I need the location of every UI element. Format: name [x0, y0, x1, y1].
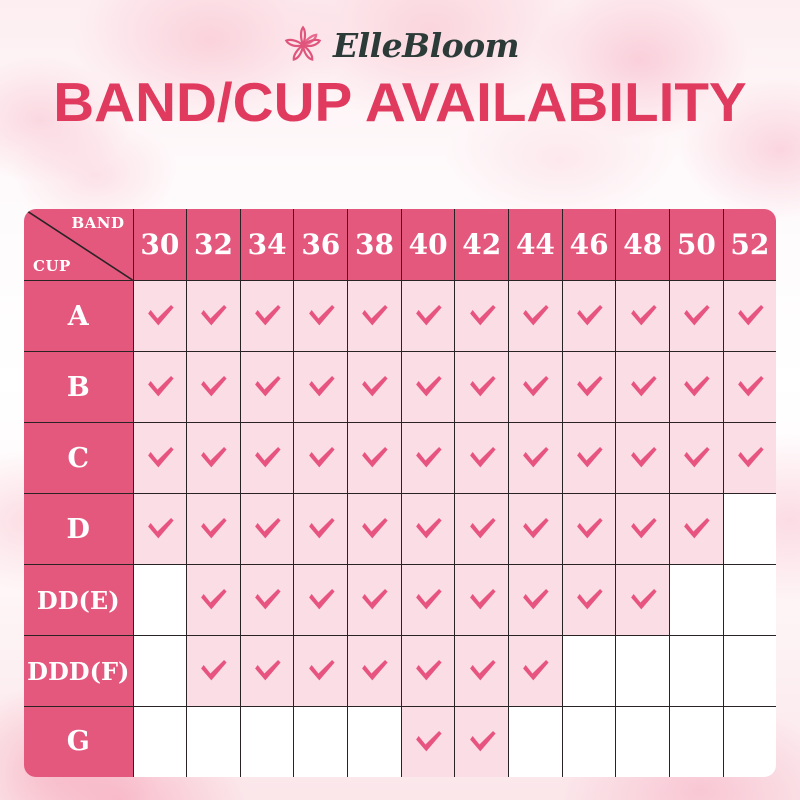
availability-cell-G-44[interactable] — [509, 707, 563, 778]
band-header-46[interactable]: 46 — [562, 208, 616, 281]
band-header-52[interactable]: 52 — [723, 208, 777, 281]
check-icon — [518, 583, 552, 617]
availability-cell-G-48[interactable] — [616, 707, 670, 778]
availability-cell-C-50[interactable] — [670, 423, 724, 494]
availability-cell-DDDF-30[interactable] — [133, 636, 187, 707]
availability-cell-D-34[interactable] — [240, 494, 294, 565]
cup-header-G[interactable]: G — [23, 707, 133, 778]
availability-cell-G-36[interactable] — [294, 707, 348, 778]
check-icon — [196, 512, 230, 546]
availability-cell-A-46[interactable] — [562, 281, 616, 352]
availability-cell-DDE-30[interactable] — [133, 565, 187, 636]
check-icon — [411, 512, 445, 546]
availability-cell-D-52[interactable] — [723, 494, 777, 565]
availability-cell-DDE-50[interactable] — [670, 565, 724, 636]
availability-cell-D-32[interactable] — [187, 494, 241, 565]
table-row: A — [23, 281, 777, 352]
availability-cell-D-50[interactable] — [670, 494, 724, 565]
band-axis-label: BAND — [71, 214, 124, 232]
availability-table-wrapper: BAND CUP 303234363840424446485052 ABCDDD… — [22, 207, 778, 775]
availability-cell-DDDF-52[interactable] — [723, 636, 777, 707]
check-icon — [679, 512, 713, 546]
check-icon — [411, 583, 445, 617]
cup-header-D[interactable]: D — [23, 494, 133, 565]
availability-cell-G-42[interactable] — [455, 707, 509, 778]
availability-cell-DDDF-34[interactable] — [240, 636, 294, 707]
check-icon — [518, 512, 552, 546]
availability-cell-DDE-34[interactable] — [240, 565, 294, 636]
check-icon — [143, 441, 177, 475]
availability-cell-C-30[interactable] — [133, 423, 187, 494]
check-icon — [626, 512, 660, 546]
band-header-42[interactable]: 42 — [455, 208, 509, 281]
availability-cell-A-40[interactable] — [401, 281, 455, 352]
cup-header-C[interactable]: C — [23, 423, 133, 494]
check-icon — [465, 512, 499, 546]
check-icon — [465, 299, 499, 333]
availability-cell-A-36[interactable] — [294, 281, 348, 352]
check-icon — [304, 654, 338, 688]
availability-cell-DDE-36[interactable] — [294, 565, 348, 636]
check-icon — [304, 299, 338, 333]
availability-cell-G-52[interactable] — [723, 707, 777, 778]
check-icon — [518, 370, 552, 404]
check-icon — [250, 441, 284, 475]
availability-cell-C-52[interactable] — [723, 423, 777, 494]
availability-cell-DDDF-48[interactable] — [616, 636, 670, 707]
availability-cell-B-48[interactable] — [616, 352, 670, 423]
table-row: DDD(F) — [23, 636, 777, 707]
check-icon — [572, 441, 606, 475]
check-icon — [357, 583, 391, 617]
availability-cell-DDE-48[interactable] — [616, 565, 670, 636]
check-icon — [411, 725, 445, 759]
check-icon — [679, 370, 713, 404]
check-icon — [304, 512, 338, 546]
check-icon — [196, 441, 230, 475]
check-icon — [411, 299, 445, 333]
band-header-38[interactable]: 38 — [348, 208, 402, 281]
availability-cell-DDE-52[interactable] — [723, 565, 777, 636]
table-row: G — [23, 707, 777, 778]
check-icon — [733, 299, 767, 333]
band-header-32[interactable]: 32 — [187, 208, 241, 281]
check-icon — [357, 512, 391, 546]
availability-cell-B-44[interactable] — [509, 352, 563, 423]
check-icon — [250, 654, 284, 688]
check-icon — [733, 441, 767, 475]
availability-cell-DDDF-32[interactable] — [187, 636, 241, 707]
check-icon — [465, 725, 499, 759]
band-header-40[interactable]: 40 — [401, 208, 455, 281]
brand-logo: ElleBloom — [0, 0, 800, 56]
availability-cell-DDE-42[interactable] — [455, 565, 509, 636]
availability-cell-A-34[interactable] — [240, 281, 294, 352]
availability-cell-C-32[interactable] — [187, 423, 241, 494]
availability-cell-G-38[interactable] — [348, 707, 402, 778]
availability-cell-C-36[interactable] — [294, 423, 348, 494]
check-icon — [626, 299, 660, 333]
band-header-36[interactable]: 36 — [294, 208, 348, 281]
availability-cell-A-30[interactable] — [133, 281, 187, 352]
availability-cell-DDDF-50[interactable] — [670, 636, 724, 707]
check-icon — [626, 370, 660, 404]
availability-cell-D-36[interactable] — [294, 494, 348, 565]
availability-cell-G-32[interactable] — [187, 707, 241, 778]
check-icon — [304, 583, 338, 617]
check-icon — [411, 441, 445, 475]
page-title: BAND/CUP AVAILABILITY — [0, 70, 800, 134]
availability-cell-A-48[interactable] — [616, 281, 670, 352]
availability-cell-B-36[interactable] — [294, 352, 348, 423]
availability-cell-C-40[interactable] — [401, 423, 455, 494]
check-icon — [679, 299, 713, 333]
check-icon — [250, 583, 284, 617]
table-row: B — [23, 352, 777, 423]
availability-cell-DDE-46[interactable] — [562, 565, 616, 636]
availability-cell-C-48[interactable] — [616, 423, 670, 494]
availability-cell-A-44[interactable] — [509, 281, 563, 352]
check-icon — [465, 370, 499, 404]
availability-cell-C-44[interactable] — [509, 423, 563, 494]
availability-cell-B-34[interactable] — [240, 352, 294, 423]
availability-cell-DDDF-44[interactable] — [509, 636, 563, 707]
check-icon — [304, 370, 338, 404]
check-icon — [143, 299, 177, 333]
availability-cell-B-50[interactable] — [670, 352, 724, 423]
check-icon — [518, 299, 552, 333]
availability-cell-B-42[interactable] — [455, 352, 509, 423]
check-icon — [679, 441, 713, 475]
band-header-30[interactable]: 30 — [133, 208, 187, 281]
availability-cell-DDDF-36[interactable] — [294, 636, 348, 707]
availability-cell-C-46[interactable] — [562, 423, 616, 494]
flower-icon — [281, 23, 325, 67]
check-icon — [572, 583, 606, 617]
brand-name: ElleBloom — [333, 26, 519, 65]
check-icon — [626, 583, 660, 617]
availability-cell-DDDF-46[interactable] — [562, 636, 616, 707]
check-icon — [411, 654, 445, 688]
availability-cell-B-32[interactable] — [187, 352, 241, 423]
availability-cell-G-34[interactable] — [240, 707, 294, 778]
availability-cell-G-30[interactable] — [133, 707, 187, 778]
band-header-44[interactable]: 44 — [509, 208, 563, 281]
check-icon — [518, 654, 552, 688]
cup-header-A[interactable]: A — [23, 281, 133, 352]
check-icon — [465, 654, 499, 688]
check-icon — [357, 370, 391, 404]
availability-cell-A-42[interactable] — [455, 281, 509, 352]
cup-header-DDE[interactable]: DD(E) — [23, 565, 133, 636]
check-icon — [733, 370, 767, 404]
availability-cell-DDDF-38[interactable] — [348, 636, 402, 707]
availability-cell-B-46[interactable] — [562, 352, 616, 423]
check-icon — [357, 441, 391, 475]
availability-cell-B-30[interactable] — [133, 352, 187, 423]
availability-cell-G-40[interactable] — [401, 707, 455, 778]
band-header-48[interactable]: 48 — [616, 208, 670, 281]
check-icon — [357, 299, 391, 333]
availability-cell-DDDF-42[interactable] — [455, 636, 509, 707]
check-icon — [572, 370, 606, 404]
table-row: DD(E) — [23, 565, 777, 636]
availability-cell-D-42[interactable] — [455, 494, 509, 565]
availability-cell-A-32[interactable] — [187, 281, 241, 352]
check-icon — [626, 441, 660, 475]
band-header-50[interactable]: 50 — [670, 208, 724, 281]
availability-cell-A-38[interactable] — [348, 281, 402, 352]
availability-cell-D-44[interactable] — [509, 494, 563, 565]
availability-cell-G-50[interactable] — [670, 707, 724, 778]
check-icon — [357, 654, 391, 688]
band-header-34[interactable]: 34 — [240, 208, 294, 281]
availability-cell-D-40[interactable] — [401, 494, 455, 565]
availability-cell-D-30[interactable] — [133, 494, 187, 565]
check-icon — [196, 583, 230, 617]
check-icon — [411, 370, 445, 404]
table-body: ABCDDD(E)DDD(F)G — [23, 281, 777, 778]
check-icon — [196, 299, 230, 333]
availability-table: BAND CUP 303234363840424446485052 ABCDDD… — [22, 207, 778, 779]
table-row: C — [23, 423, 777, 494]
table-row: D — [23, 494, 777, 565]
cup-axis-label: CUP — [33, 257, 71, 275]
check-icon — [250, 299, 284, 333]
availability-cell-DDE-32[interactable] — [187, 565, 241, 636]
corner-header-cell: BAND CUP — [23, 208, 133, 281]
availability-cell-C-38[interactable] — [348, 423, 402, 494]
availability-chart-page: ElleBloom BAND/CUP AVAILABILITY BAND CUP — [0, 0, 800, 800]
cup-header-DDDF[interactable]: DDD(F) — [23, 636, 133, 707]
availability-cell-D-38[interactable] — [348, 494, 402, 565]
availability-cell-B-38[interactable] — [348, 352, 402, 423]
check-icon — [143, 370, 177, 404]
check-icon — [465, 583, 499, 617]
availability-cell-C-34[interactable] — [240, 423, 294, 494]
check-icon — [196, 370, 230, 404]
availability-cell-DDDF-40[interactable] — [401, 636, 455, 707]
check-icon — [465, 441, 499, 475]
availability-cell-DDE-44[interactable] — [509, 565, 563, 636]
availability-cell-C-42[interactable] — [455, 423, 509, 494]
check-icon — [143, 512, 177, 546]
availability-cell-A-50[interactable] — [670, 281, 724, 352]
availability-cell-D-48[interactable] — [616, 494, 670, 565]
check-icon — [518, 441, 552, 475]
check-icon — [572, 299, 606, 333]
availability-cell-D-46[interactable] — [562, 494, 616, 565]
availability-cell-B-40[interactable] — [401, 352, 455, 423]
availability-cell-A-52[interactable] — [723, 281, 777, 352]
table-header-row: BAND CUP 303234363840424446485052 — [23, 208, 777, 281]
availability-cell-B-52[interactable] — [723, 352, 777, 423]
cup-header-B[interactable]: B — [23, 352, 133, 423]
availability-cell-DDE-38[interactable] — [348, 565, 402, 636]
check-icon — [250, 370, 284, 404]
check-icon — [304, 441, 338, 475]
availability-cell-G-46[interactable] — [562, 707, 616, 778]
availability-cell-DDE-40[interactable] — [401, 565, 455, 636]
check-icon — [196, 654, 230, 688]
check-icon — [250, 512, 284, 546]
check-icon — [572, 512, 606, 546]
